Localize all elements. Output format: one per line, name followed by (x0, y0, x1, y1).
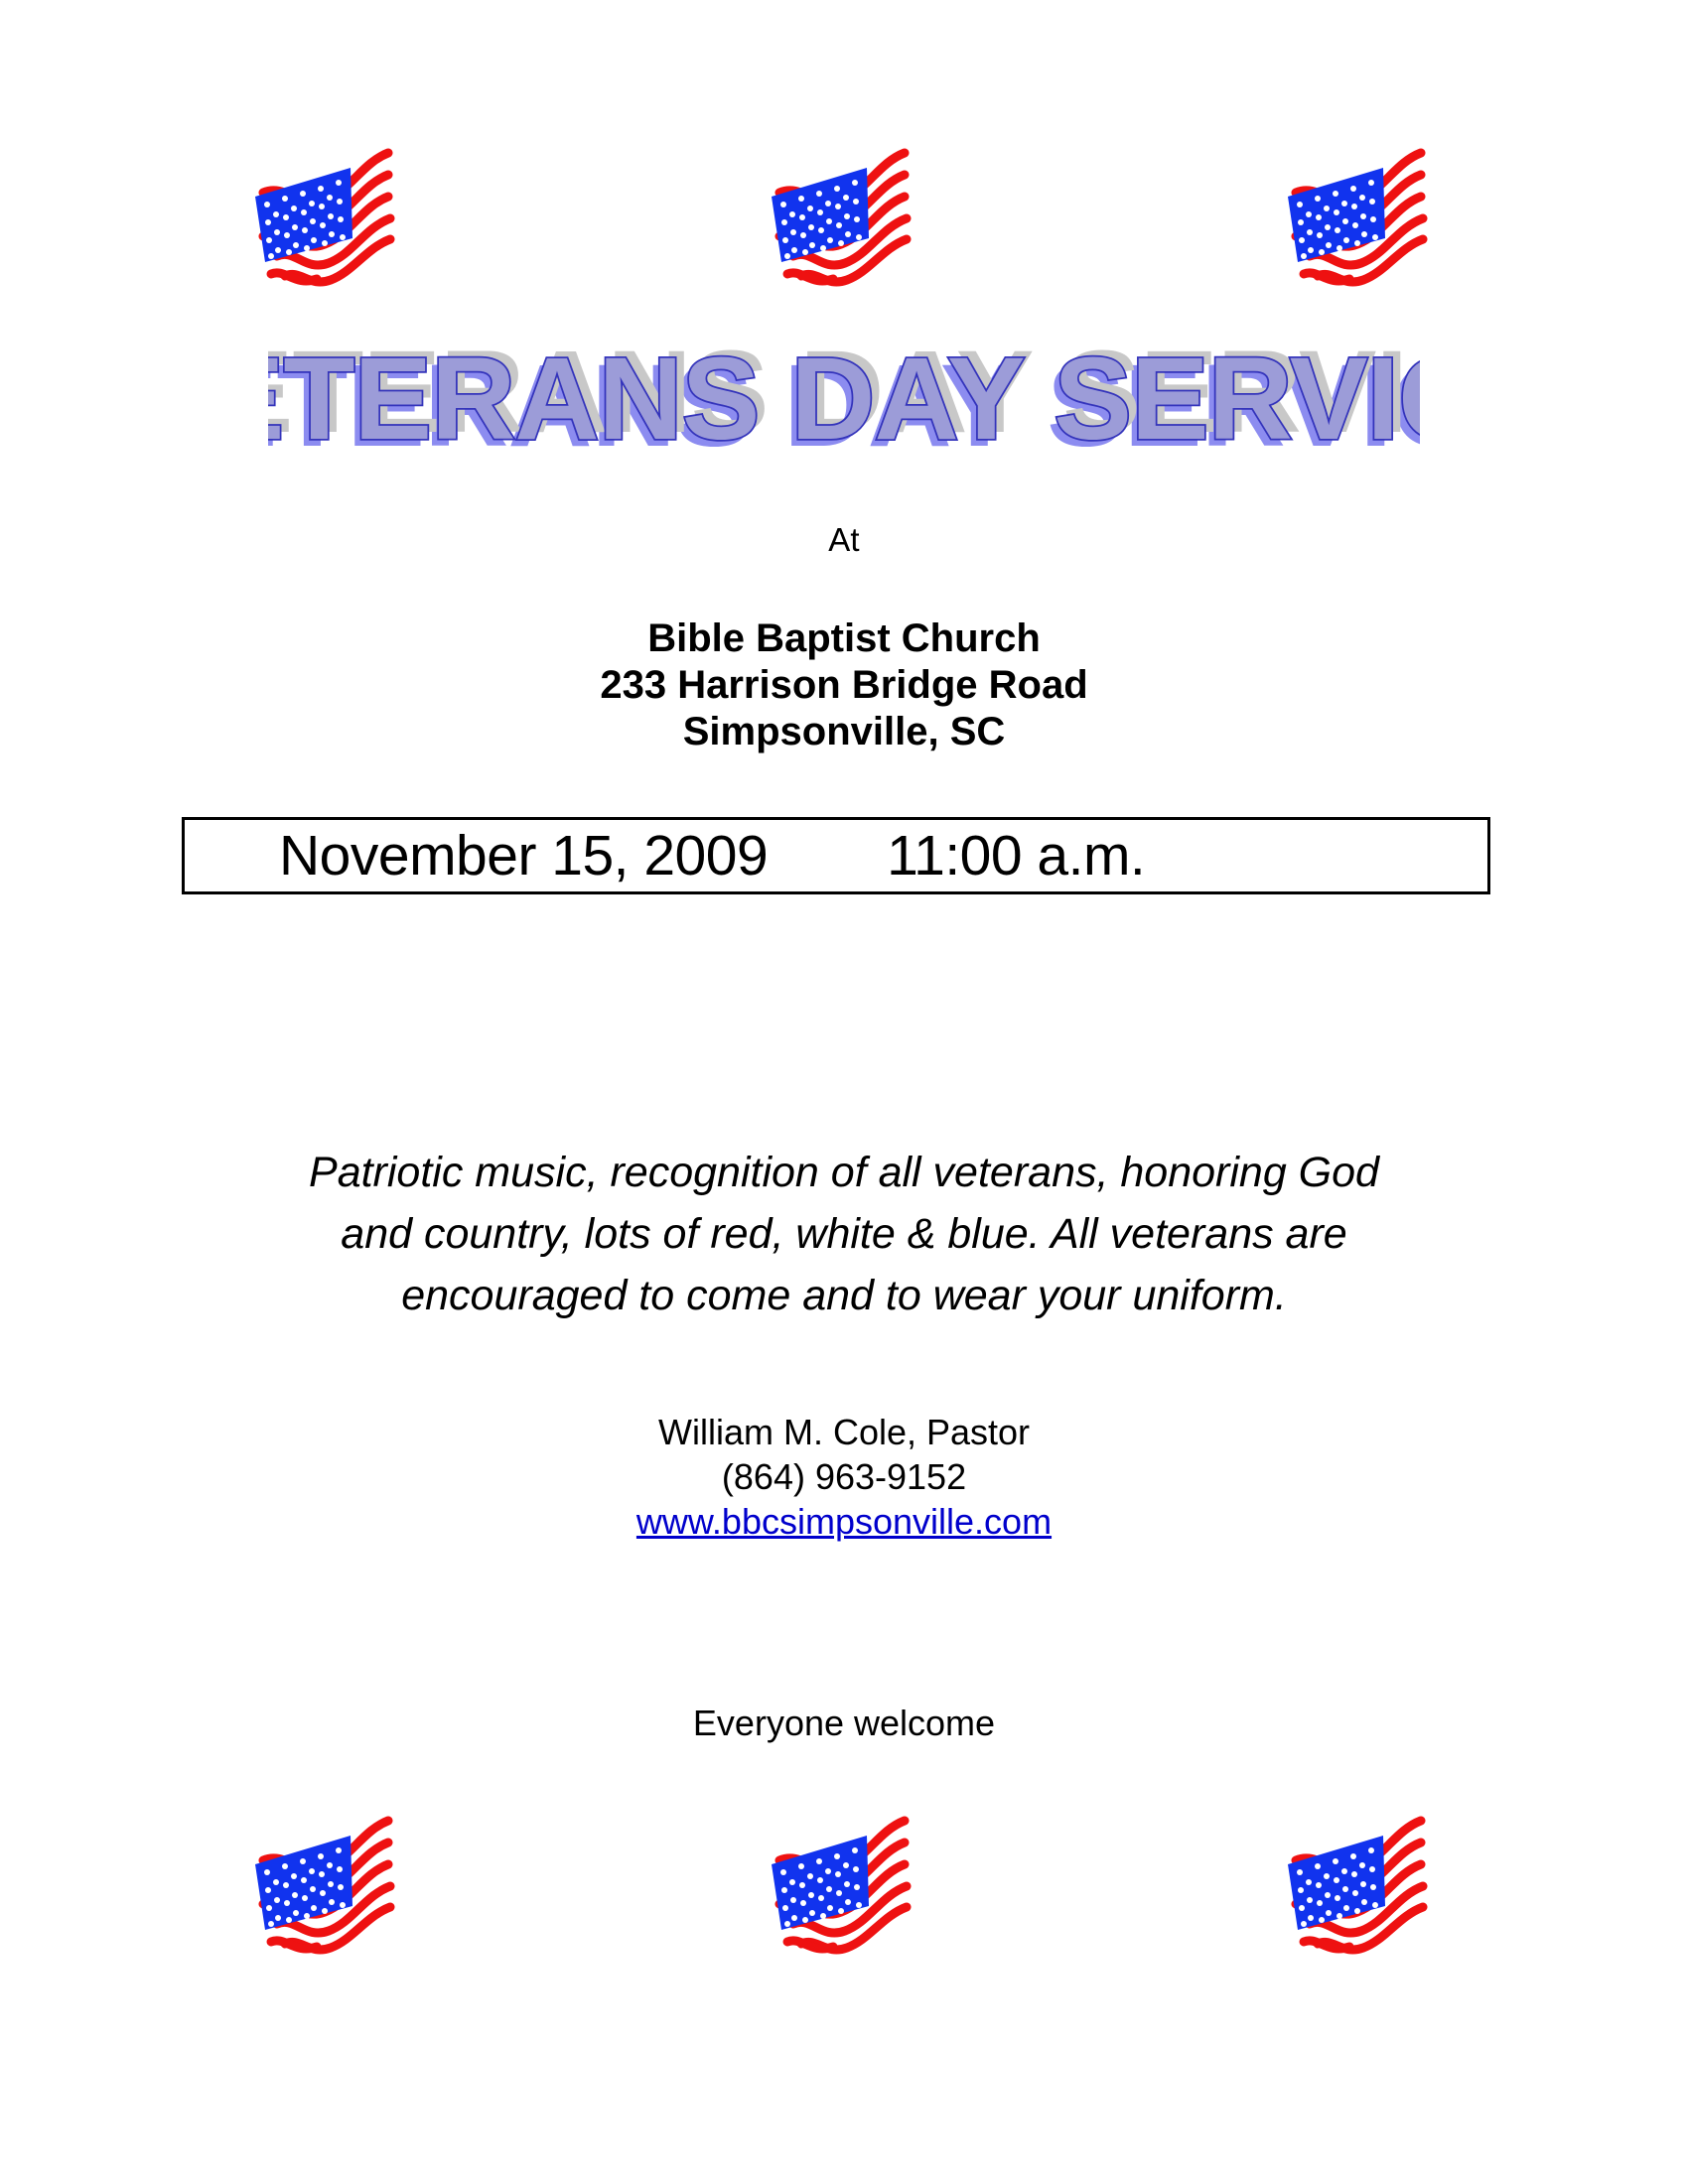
bottom-flag-slot-1 (70, 1757, 586, 1956)
description-line-2: and country, lots of red, white & blue. … (179, 1203, 1509, 1265)
date-time-box: November 15, 2009 11:00 a.m. (182, 817, 1490, 894)
welcome-note: Everyone welcome (0, 1703, 1688, 1744)
venue-city-state: Simpsonville, SC (0, 709, 1688, 755)
phone-number: (864) 963-9152 (0, 1454, 1688, 1499)
top-flag-slot-2 (586, 89, 1102, 288)
event-description: Patriotic music, recognition of all vete… (179, 1142, 1509, 1326)
contact-block: William M. Cole, Pastor (864) 963-9152 w… (0, 1410, 1688, 1544)
top-flag-row (0, 89, 1688, 298)
pastor-name: William M. Cole, Pastor (0, 1410, 1688, 1454)
wordart-face: VETERANS DAY SERVICE (268, 334, 1420, 465)
us-flag-icon (758, 1757, 931, 1956)
flyer-page: VETERANS DAY SERVICE VETERANS DAY SERVIC… (0, 0, 1688, 2184)
at-label: At (0, 521, 1688, 559)
us-flag-icon (758, 89, 931, 288)
venue-name: Bible Baptist Church (0, 615, 1688, 662)
top-flag-slot-3 (1102, 89, 1618, 288)
venue-street: 233 Harrison Bridge Road (0, 662, 1688, 709)
us-flag-icon (1274, 1757, 1448, 1956)
venue-block: Bible Baptist Church 233 Harrison Bridge… (0, 615, 1688, 755)
description-line-1: Patriotic music, recognition of all vete… (179, 1142, 1509, 1203)
date-time-box-inner: November 15, 2009 11:00 a.m. (185, 820, 1487, 891)
website-link[interactable]: www.bbcsimpsonville.com (636, 1501, 1052, 1542)
us-flag-icon (1274, 89, 1448, 288)
wordart-title-wrap: VETERANS DAY SERVICE VETERANS DAY SERVIC… (0, 328, 1688, 467)
top-flag-slot-1 (70, 89, 586, 288)
page-title: VETERANS DAY SERVICE VETERANS DAY SERVIC… (268, 328, 1420, 467)
event-time: 11:00 a.m. (887, 823, 1145, 888)
us-flag-icon (241, 1757, 415, 1956)
us-flag-icon (241, 89, 415, 288)
bottom-flag-row (0, 1757, 1688, 1966)
bottom-flag-slot-3 (1102, 1757, 1618, 1956)
bottom-flag-slot-2 (586, 1757, 1102, 1956)
description-line-3: encouraged to come and to wear your unif… (179, 1265, 1509, 1326)
event-date: November 15, 2009 (279, 823, 768, 888)
